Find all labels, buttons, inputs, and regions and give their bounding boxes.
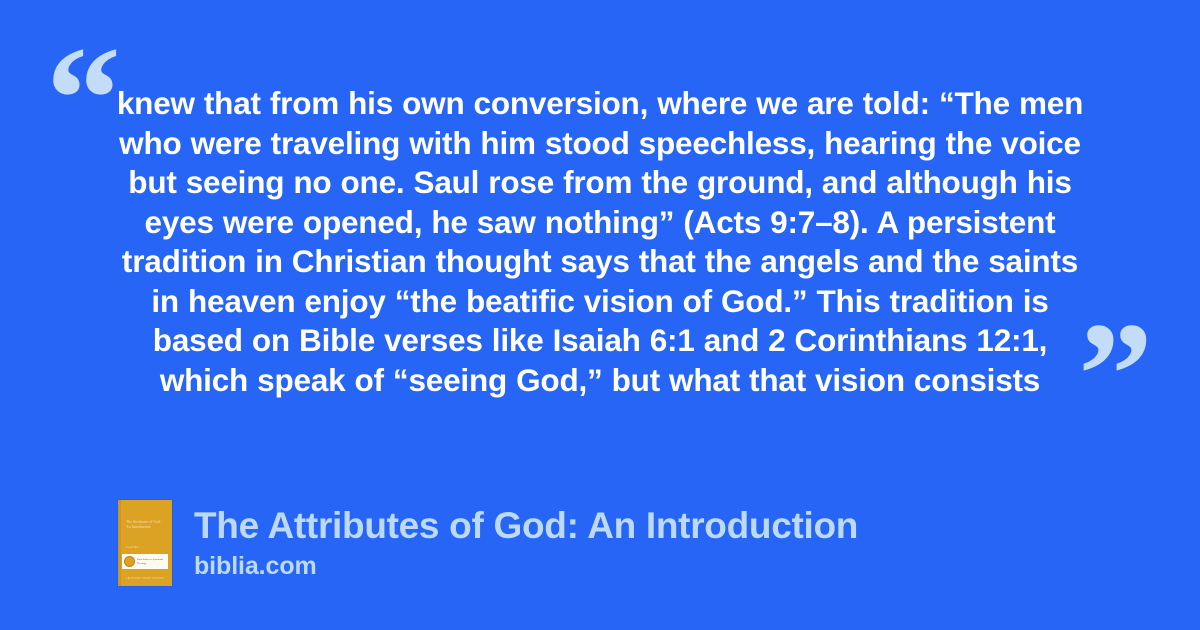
book-cover-band: Short Studies in Systematic Theology (122, 554, 168, 569)
quote-card: “ knew that from his own conversion, whe… (0, 0, 1200, 630)
source-title: The Attributes of God: An Introduction (194, 504, 858, 548)
book-spine (118, 500, 121, 586)
close-quote-icon: ” (1078, 300, 1153, 450)
quote-area: “ knew that from his own conversion, whe… (0, 0, 1200, 470)
book-cover-author: Gerald Bray (126, 546, 139, 550)
source-text-block: The Attributes of God: An Introduction b… (194, 504, 858, 582)
book-cover-thumbnail: The Attributes of God: An Introduction G… (118, 500, 172, 586)
book-cover-publisher: CROSSWAY SHORT STUDIES (118, 577, 172, 580)
quote-text: knew that from his own conversion, where… (108, 84, 1092, 400)
source-footer: The Attributes of God: An Introduction G… (118, 500, 858, 586)
book-cover-title: The Attributes of God: An Introduction (126, 520, 165, 530)
book-cover-series: Short Studies in Systematic Theology (137, 558, 166, 565)
seal-icon (124, 556, 135, 567)
source-site[interactable]: biblia.com (194, 550, 858, 582)
